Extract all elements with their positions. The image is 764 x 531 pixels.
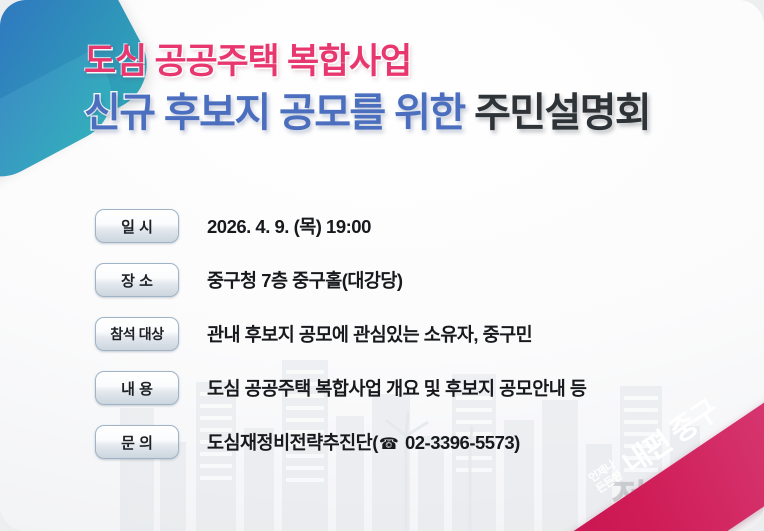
label-chip-audience: 참석 대상 <box>95 317 179 351</box>
title-line-2-dark: 주민설명회 <box>474 91 650 135</box>
contact-phone-number: 02-3396-5573 <box>405 432 514 453</box>
value-datetime: 2026. 4. 9. (목) 19:00 <box>207 213 371 239</box>
info-row-contact: 문 의 도심재정비전략추진단(☎ 02-3396-5573) <box>95 422 695 462</box>
label-chip-content: 내 용 <box>95 371 179 405</box>
info-rows: 일 시 2026. 4. 9. (목) 19:00 장 소 중구청 7층 중구홀… <box>95 206 695 476</box>
info-row-content: 내 용 도심 공공주택 복합사업 개요 및 후보지 공모안내 등 <box>95 368 695 408</box>
label-chip-contact: 문 의 <box>95 425 179 459</box>
telephone-icon: ☎ <box>379 436 398 453</box>
contact-org: 도심재정비전략추진단( <box>207 432 378 453</box>
value-audience: 관내 후보지 공모에 관심있는 소유자, 중구민 <box>207 321 532 347</box>
title-line-1: 도심 공공주택 복합사업 <box>84 44 650 81</box>
poster-card: 도심 공공주택 복합사업 신규 후보지 공모를 위한 주민설명회 일 시 202… <box>0 0 764 531</box>
label-chip-venue: 장 소 <box>95 263 179 297</box>
value-content: 도심 공공주택 복합사업 개요 및 후보지 공모안내 등 <box>207 375 586 401</box>
info-row-datetime: 일 시 2026. 4. 9. (목) 19:00 <box>95 206 695 246</box>
contact-paren-close: ) <box>514 432 520 453</box>
value-venue: 중구청 7층 중구홀(대강당) <box>207 267 403 293</box>
title-line-2: 신규 후보지 공모를 위한 주민설명회 <box>84 92 650 134</box>
info-row-audience: 참석 대상 관내 후보지 공모에 관심있는 소유자, 중구민 <box>95 314 695 354</box>
info-row-venue: 장 소 중구청 7층 중구홀(대강당) <box>95 260 695 300</box>
value-contact: 도심재정비전략추진단(☎ 02-3396-5573) <box>207 429 520 455</box>
title-line-2-blue: 신규 후보지 공모를 위한 <box>84 91 465 135</box>
poster-headline: 도심 공공주택 복합사업 신규 후보지 공모를 위한 주민설명회 <box>84 44 650 134</box>
label-chip-datetime: 일 시 <box>95 209 179 243</box>
